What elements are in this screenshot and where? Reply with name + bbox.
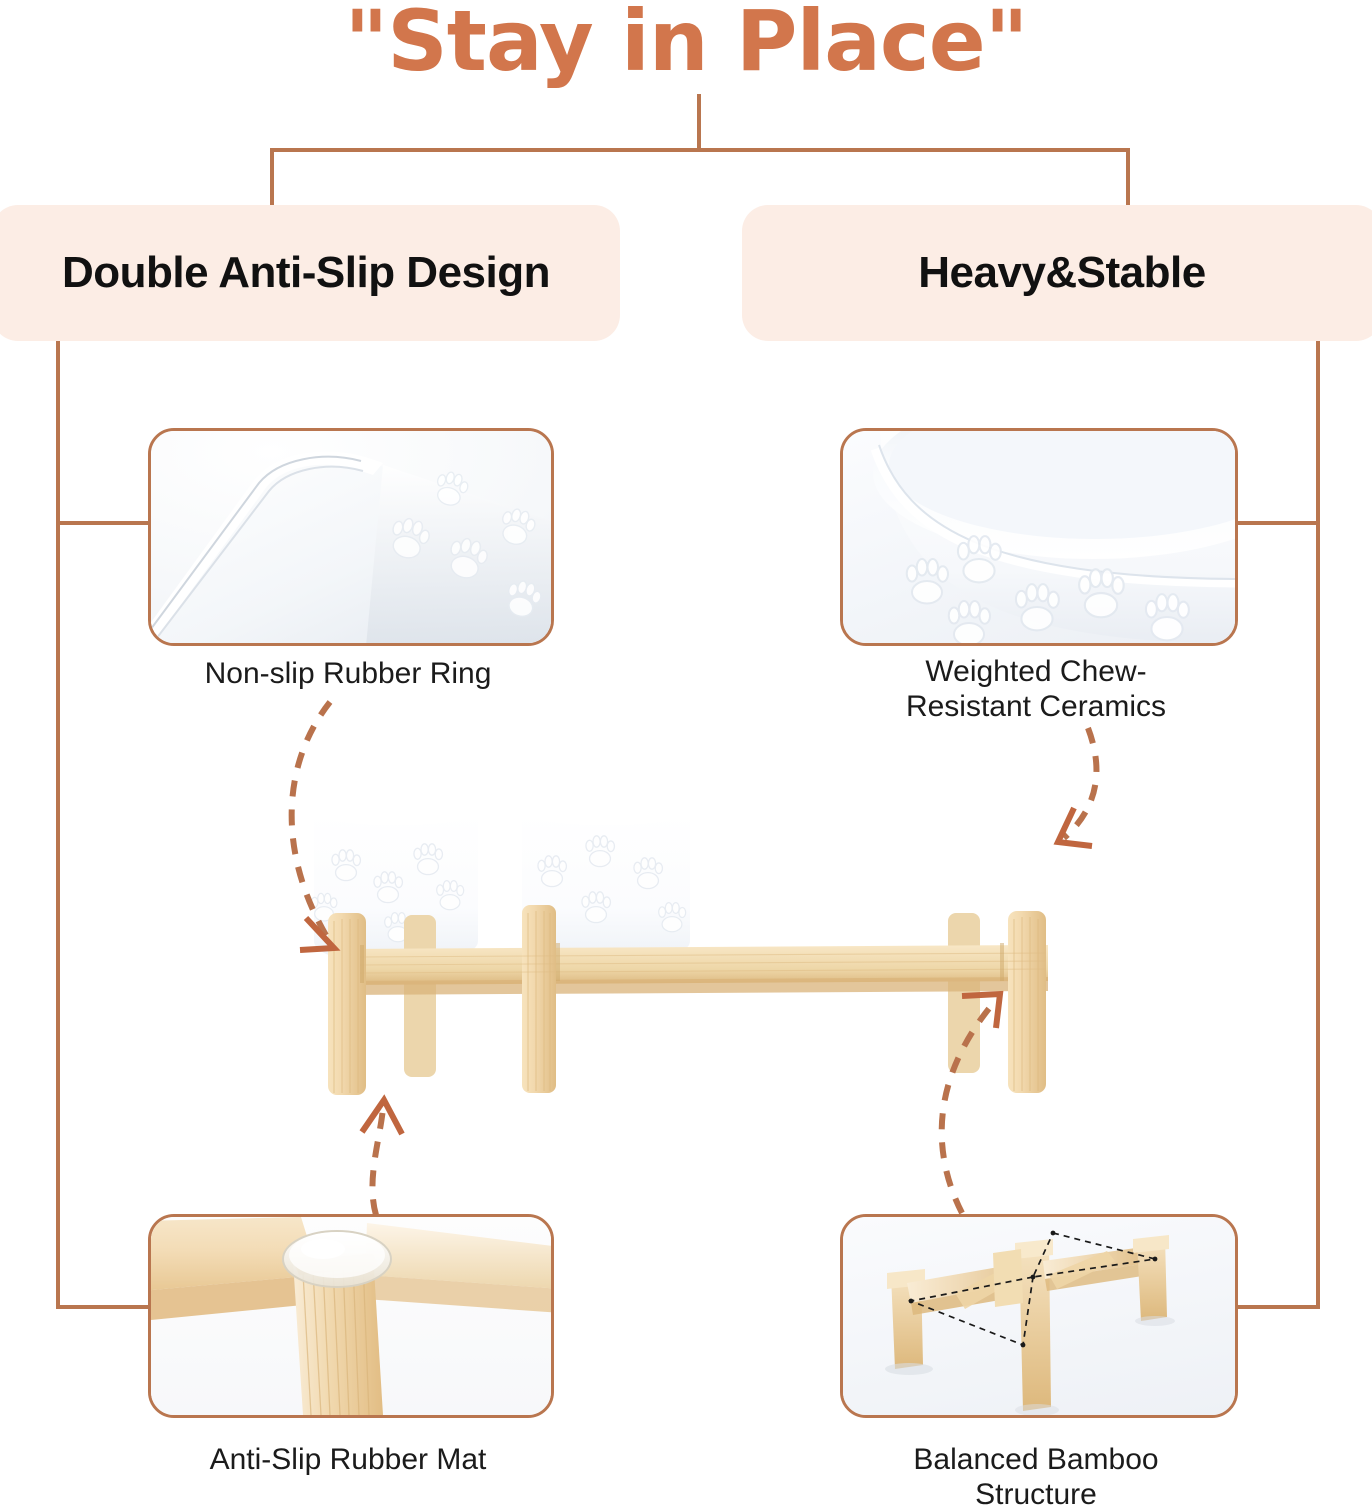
hero-product-image [300,795,1090,1125]
connector-top-bar [270,148,1130,152]
caption-line: Structure [840,1477,1232,1512]
header-label-left: Double Anti-Slip Design [62,248,550,298]
header-pill-left: Double Anti-Slip Design [0,205,620,341]
photo-balanced-bamboo-structure [843,1217,1235,1415]
header-label-right: Heavy&Stable [918,248,1205,298]
connector-title-stem [697,94,701,152]
rail-left-vertical [56,341,60,1309]
infographic-canvas: "Stay in Place" Double Anti-Slip Design … [0,0,1372,1500]
caption-line: Non-slip Rubber Ring [148,656,548,691]
feature-caption-anti-slip-rubber-mat: Anti-Slip Rubber Mat [148,1442,548,1477]
photo-weighted-chew-resistant-ceramics [843,431,1235,643]
connector-top-left-drop [270,148,274,208]
caption-line: Resistant Ceramics [840,689,1232,724]
feature-card-anti-slip-rubber-mat [148,1214,554,1418]
caption-line: Anti-Slip Rubber Mat [148,1442,548,1477]
feature-caption-weighted-chew-resistant-ceramics: Weighted Chew- Resistant Ceramics [840,654,1232,724]
rail-right-vertical [1316,341,1320,1309]
caption-line: Weighted Chew- [840,654,1232,689]
rail-left-stub-bottom [56,1305,150,1309]
connector-top-right-drop [1126,148,1130,208]
rail-right-stub-top [1228,521,1320,525]
photo-anti-slip-rubber-mat [151,1217,551,1415]
feature-card-balanced-bamboo-structure [840,1214,1238,1418]
caption-line: Balanced Bamboo [840,1442,1232,1477]
feature-caption-non-slip-rubber-ring: Non-slip Rubber Ring [148,656,548,691]
rail-left-stub-top [56,521,150,525]
photo-non-slip-rubber-ring [151,431,551,643]
feature-card-weighted-chew-resistant-ceramics [840,428,1238,646]
feature-caption-balanced-bamboo-structure: Balanced Bamboo Structure [840,1442,1232,1512]
feature-card-non-slip-rubber-ring [148,428,554,646]
header-pill-right: Heavy&Stable [742,205,1372,341]
rail-right-stub-bottom [1228,1305,1320,1309]
page-title: "Stay in Place" [0,0,1372,90]
